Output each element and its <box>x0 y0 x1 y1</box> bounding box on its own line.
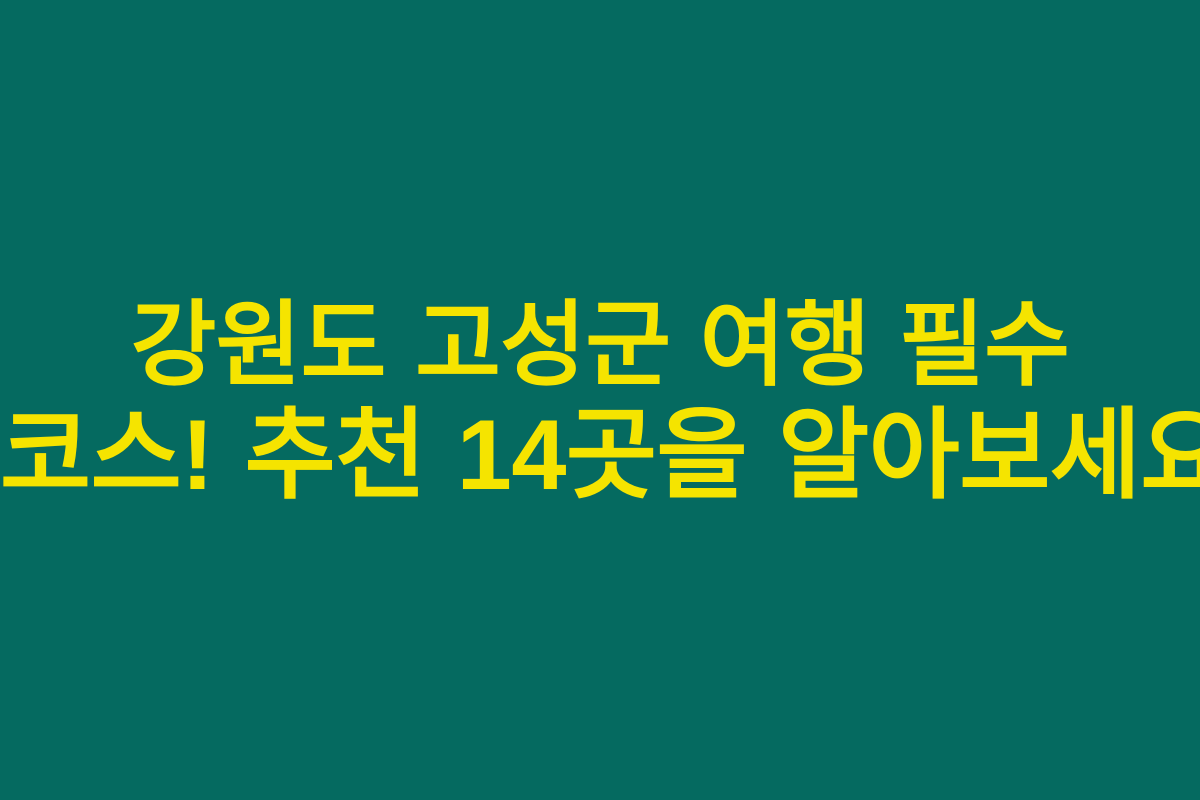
headline-line-2: 코스! 추천 14곳을 알아보세요 <box>0 400 1200 510</box>
headline: 강원도 고성군 여행 필수 코스! 추천 14곳을 알아보세요 <box>0 290 1200 510</box>
headline-line-1: 강원도 고성군 여행 필수 <box>0 290 1200 400</box>
title-card: 강원도 고성군 여행 필수 코스! 추천 14곳을 알아보세요 <box>0 0 1200 800</box>
